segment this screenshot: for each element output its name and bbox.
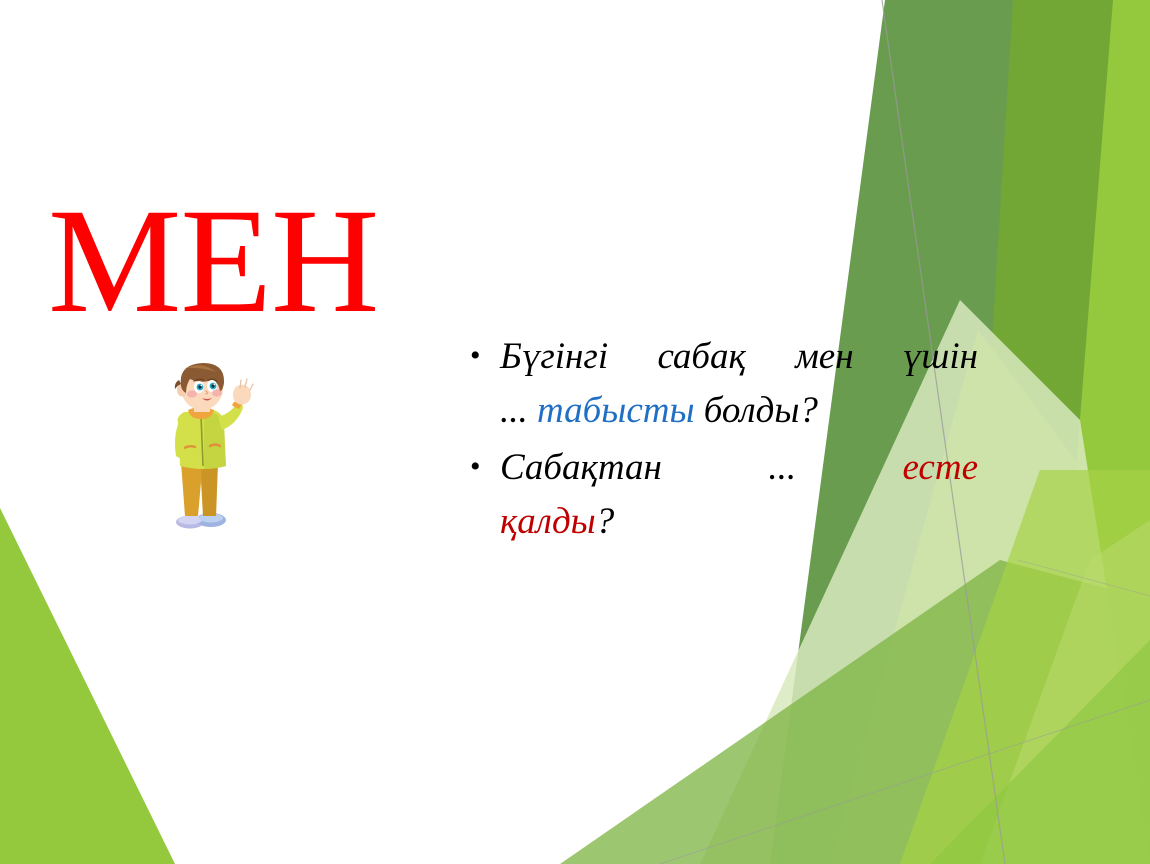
pants-shade (201, 462, 218, 516)
bg-band-olive (960, 0, 1150, 864)
keyword-este: есте (903, 447, 979, 488)
bullet-1-line-2: ... табысты болды? (500, 384, 978, 438)
body-text-block: • Бүгінгі сабақ мен үшін ... табысты бол… (470, 330, 978, 552)
eye-right-glint (214, 384, 216, 386)
bullet-1-line-1: Бүгінгі сабақ мен үшін (500, 330, 978, 384)
bg-wedge-left (0, 508, 175, 864)
bg-sheet-pale-2 (980, 520, 1150, 864)
bg-hairline-3 (1018, 560, 1150, 596)
shoe-left-highlight (178, 516, 202, 525)
bullet-marker-icon: • (470, 330, 500, 383)
bullet-1-body: Бүгінгі сабақ мен үшін ... табысты болды… (500, 330, 978, 439)
eye-left-glint (201, 385, 203, 387)
bullet-2-line-2: қалды? (500, 495, 978, 549)
bullet-2-body: Сабақтан ... есте қалды? (500, 441, 978, 550)
cheek-left (187, 390, 197, 397)
bullet-2-line-1: Сабақтан ... есте (500, 441, 978, 495)
bg-hairline-2 (660, 700, 1150, 864)
slide-title: МЕН (48, 186, 468, 336)
bg-band-bright (1045, 0, 1150, 864)
bullet-2-word-sabaktan: Сабақтан (500, 447, 662, 488)
bg-sheet-corner (930, 640, 1150, 864)
keyword-qaldy: қалды (500, 501, 596, 542)
bullet-1-ellipsis: ... (500, 390, 537, 431)
hand-waving (233, 385, 251, 405)
bullet-marker-icon-2: • (470, 441, 500, 494)
bullet-2-ellipsis: ... (768, 447, 796, 488)
slide-canvas: МЕН (0, 0, 1150, 864)
bg-sheet-green-mid (560, 560, 1150, 864)
bullet-2-question-mark: ? (596, 501, 615, 542)
bullet-1-suffix: болды? (695, 390, 818, 431)
bullet-item-2: • Сабақтан ... есте қалды? (470, 441, 978, 550)
cartoon-boy-raising-hand-illustration (148, 362, 264, 532)
bullet-item-1: • Бүгінгі сабақ мен үшін ... табысты бол… (470, 330, 978, 439)
keyword-tabysty: табысты (537, 390, 695, 431)
cheek-right (212, 389, 222, 396)
